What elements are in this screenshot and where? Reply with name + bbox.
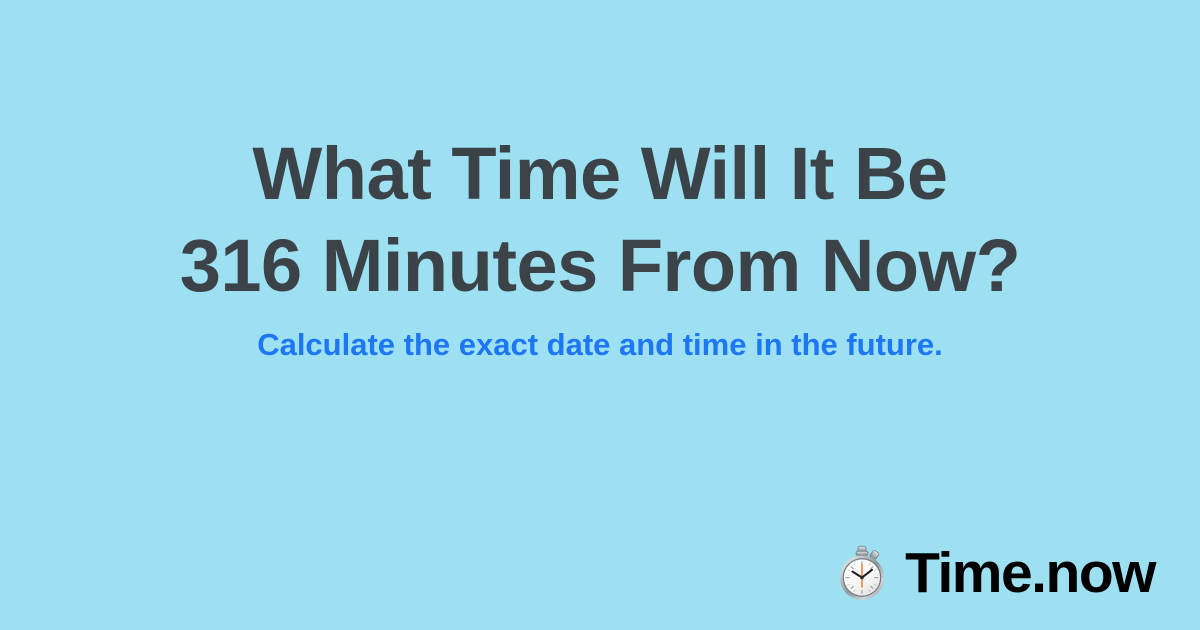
- og-card: What Time Will It Be 316 Minutes From No…: [0, 0, 1200, 630]
- page-title: What Time Will It Be 316 Minutes From No…: [0, 128, 1200, 312]
- brand-logo[interactable]: Time.now: [833, 544, 1155, 602]
- brand-name: Time.now: [905, 544, 1155, 602]
- headline-line-2: 316 Minutes From Now?: [0, 220, 1200, 312]
- stopwatch-icon: [833, 544, 891, 602]
- headline: What Time Will It Be 316 Minutes From No…: [0, 128, 1200, 312]
- headline-line-1: What Time Will It Be: [0, 128, 1200, 220]
- subtitle: Calculate the exact date and time in the…: [0, 325, 1200, 365]
